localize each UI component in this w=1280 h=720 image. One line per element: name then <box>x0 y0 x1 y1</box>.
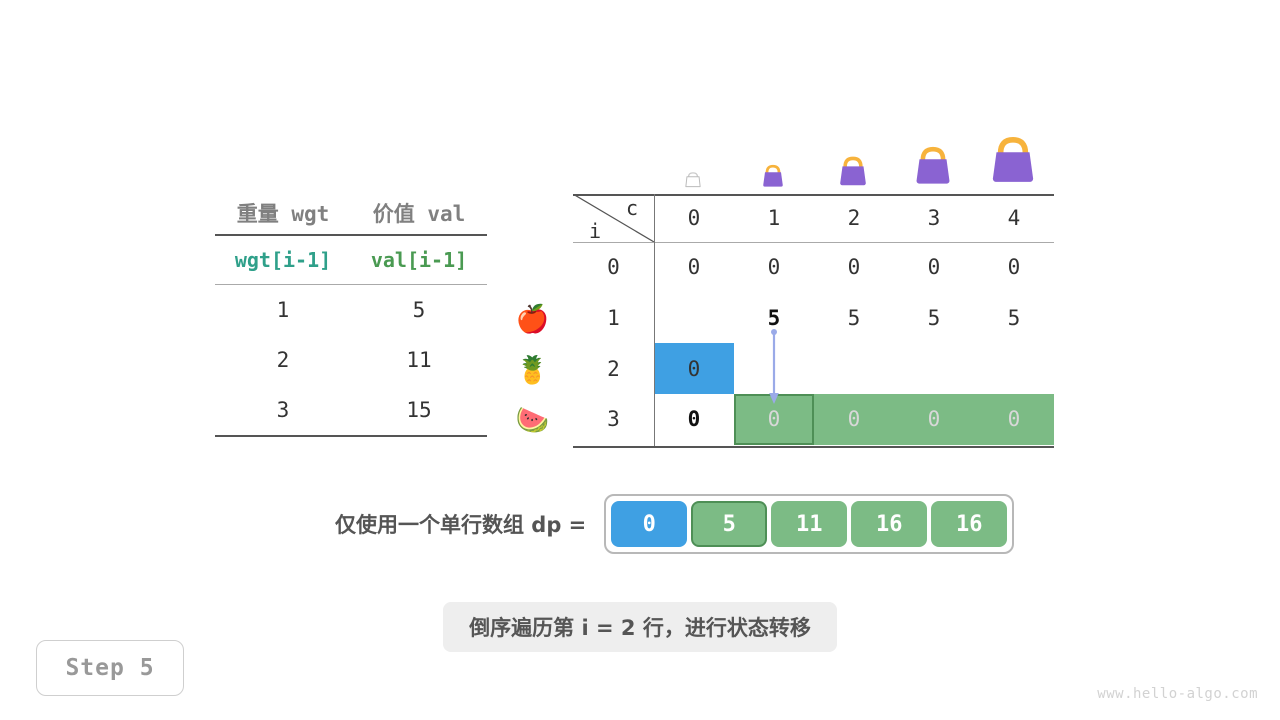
dp-corner-cell: c i <box>573 194 654 242</box>
left-table-rule-bottom <box>215 435 487 437</box>
dp-cell-1-4: 5 <box>974 293 1054 344</box>
dp-corner-label-i: i <box>589 219 601 243</box>
dp-cell-0-0: 0 <box>654 242 734 293</box>
bag-cell-4 <box>973 119 1053 191</box>
bag-cell-0 <box>653 119 733 191</box>
left-table-subheader-wgt: wgt[i-1] <box>215 248 351 272</box>
caption-text: 倒序遍历第 i = 2 行，进行状态转移 <box>443 602 837 652</box>
table-row: 1 5 <box>215 285 487 335</box>
wgt-value-1: 1 <box>215 298 351 322</box>
dp-cell-3-0: 0 <box>654 394 734 445</box>
handbag-icon <box>906 137 960 191</box>
dp-array-cell-2: 11 <box>771 501 847 547</box>
dp-row-header-0: 0 <box>573 242 654 293</box>
bag-cell-1 <box>733 119 813 191</box>
dp-header-row: c i 0 1 2 3 4 <box>573 194 1054 242</box>
dp-array-cell-1: 5 <box>691 501 767 547</box>
wgt-value-3: 3 <box>215 398 351 422</box>
table-row: 1 0 5 5 5 5 <box>573 293 1054 344</box>
bag-cell-3 <box>893 119 973 191</box>
dp-array-cell-4: 16 <box>931 501 1007 547</box>
dp-col-header-4: 4 <box>974 194 1054 242</box>
dp-array-cell-3: 16 <box>851 501 927 547</box>
dp-rule-bottom <box>573 446 1054 448</box>
dp-cell-2-0: 0 <box>654 343 734 394</box>
dp-row-header-1: 1 <box>573 293 654 344</box>
table-row: 3 0 0 0 0 0 <box>573 394 1054 445</box>
left-table-header-val: 价值 val <box>351 198 487 228</box>
dp-cell-0-3: 0 <box>894 242 974 293</box>
dp-cell-2-4: 16 <box>974 343 1054 394</box>
val-value-1: 5 <box>351 298 487 322</box>
dp-row-header-2: 2 <box>573 343 654 394</box>
bag-icon-row <box>653 119 1053 191</box>
left-table-header-wgt: 重量 wgt <box>215 198 351 228</box>
caption: 倒序遍历第 i = 2 行，进行状态转移 <box>0 602 1280 652</box>
handbag-icon <box>980 125 1046 191</box>
dp-col-header-0: 0 <box>654 194 734 242</box>
val-value-3: 15 <box>351 398 487 422</box>
dp-cell-2-3: 16 <box>894 343 974 394</box>
weight-value-table: 重量 wgt 价值 val wgt[i-1] val[i-1] 1 5 2 11… <box>215 192 487 437</box>
dp-cell-0-4: 0 <box>974 242 1054 293</box>
step-badge: Step 5 <box>36 640 184 696</box>
dp-array-container: 0 5 11 16 16 <box>604 494 1014 554</box>
dp-cell-1-0: 0 <box>654 293 734 344</box>
dp-corner-label-c: c <box>626 196 638 220</box>
dp-cell-3-2: 0 <box>814 394 894 445</box>
dp-cell-0-1: 0 <box>734 242 814 293</box>
apple-emoji: 🍎 <box>505 294 560 345</box>
fruit-icon-column: 🍎 🍍 🍉 <box>505 294 560 446</box>
state-transition-arrow-icon <box>766 328 782 410</box>
watermark: www.hello-algo.com <box>1097 686 1258 702</box>
dp-array-cell-0: 0 <box>611 501 687 547</box>
dp-cell-1-2: 5 <box>814 293 894 344</box>
left-table-body: 1 5 2 11 3 15 <box>215 285 487 435</box>
dp-cell-2-2: 11 <box>814 343 894 394</box>
dp-col-header-3: 3 <box>894 194 974 242</box>
dp-rule-header <box>573 242 1054 243</box>
dp-cell-0-2: 0 <box>814 242 894 293</box>
handbag-icon <box>757 159 789 191</box>
empty-bag-icon <box>682 169 704 191</box>
dp-vertical-divider <box>654 194 655 446</box>
val-value-2: 11 <box>351 348 487 372</box>
table-row: 3 15 <box>215 385 487 435</box>
dp-cell-3-4: 0 <box>974 394 1054 445</box>
left-table-subheader-val: val[i-1] <box>351 248 487 272</box>
dp-cell-3-3: 0 <box>894 394 974 445</box>
dp-rule-top <box>573 194 1054 196</box>
diagonal-divider-line <box>573 194 654 242</box>
dp-cell-1-3: 5 <box>894 293 974 344</box>
dp-row-header-3: 3 <box>573 394 654 445</box>
left-table-header-row: 重量 wgt 价值 val <box>215 192 487 234</box>
dp-col-header-2: 2 <box>814 194 894 242</box>
dp-array-label: 仅使用一个单行数组 dp = <box>335 509 586 539</box>
bag-cell-2 <box>813 119 893 191</box>
dp-grid: c i 0 1 2 3 4 0 0 0 0 0 0 1 0 5 5 5 5 <box>573 194 1054 445</box>
pineapple-emoji: 🍍 <box>505 345 560 396</box>
dp-col-header-1: 1 <box>734 194 814 242</box>
dp-array-section: 仅使用一个单行数组 dp = 0 5 11 16 16 <box>335 494 1014 554</box>
handbag-icon <box>832 149 874 191</box>
table-row: 2 11 <box>215 335 487 385</box>
wgt-value-2: 2 <box>215 348 351 372</box>
table-row: 0 0 0 0 0 0 <box>573 242 1054 293</box>
left-table-subheader-row: wgt[i-1] val[i-1] <box>215 236 487 284</box>
watermelon-emoji: 🍉 <box>505 395 560 446</box>
table-row: 2 0 5 11 16 16 <box>573 343 1054 394</box>
dp-table: c i 0 1 2 3 4 0 0 0 0 0 0 1 0 5 5 5 5 <box>573 194 1054 445</box>
